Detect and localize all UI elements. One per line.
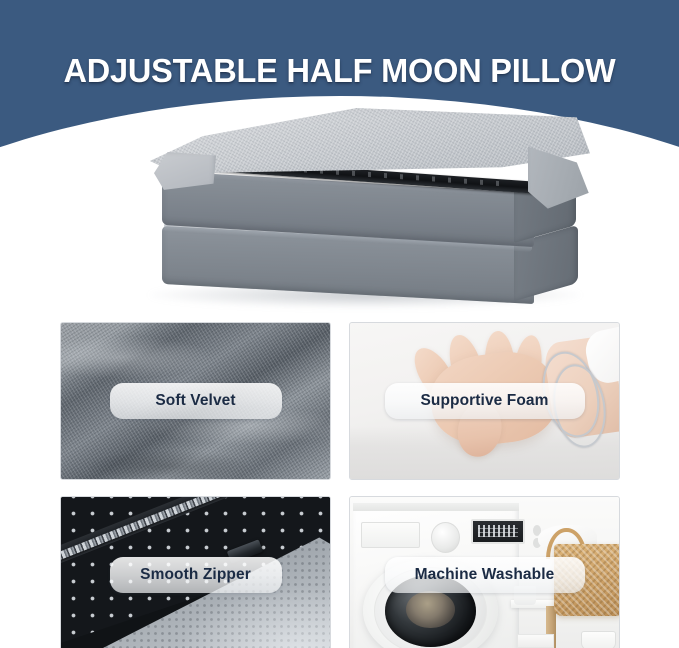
feature-tile-soft-velvet: Soft Velvet [60, 322, 331, 480]
pillow-fold-seam [168, 156, 568, 196]
bottom-slab-front-face [162, 226, 534, 304]
pillow-drop-shadow [150, 282, 580, 308]
pillow-layer-bottom [162, 228, 578, 298]
wedge-side-face [528, 144, 594, 210]
feature-label-machine-washable: Machine Washable [385, 557, 585, 593]
feature-tile-machine-washable: Machine Washable [349, 496, 620, 648]
feature-label-smooth-zipper: Smooth Zipper [110, 557, 282, 593]
pillow-seam-stitching [240, 163, 500, 186]
feature-label-supportive-foam: Supportive Foam [385, 383, 585, 419]
storage-bowl [581, 631, 616, 648]
header-curve-decoration [0, 96, 679, 152]
bottom-slab-side-face [514, 225, 578, 301]
wedge-left-fold [154, 152, 216, 196]
product-infographic: ADJUSTABLE HALF MOON PILLOW [0, 0, 679, 648]
feature-tile-smooth-zipper: Smooth Zipper [60, 496, 331, 648]
washing-machine-top [353, 503, 520, 511]
washer-display-panel [471, 519, 525, 544]
page-title: ADJUSTABLE HALF MOON PILLOW [5, 52, 674, 90]
middle-slab-side-face [514, 169, 576, 243]
feature-label-soft-velvet: Soft Velvet [110, 383, 282, 419]
feature-grid: Soft Velvet Supportive Foam [60, 322, 620, 648]
middle-slab-front-face [162, 171, 534, 247]
bottom-slab-top-edge [164, 222, 532, 252]
pillow-layer-middle [162, 176, 578, 242]
feature-tile-supportive-foam: Supportive Foam [349, 322, 620, 480]
storage-box [517, 634, 555, 648]
washer-drum [406, 591, 454, 628]
detergent-drawer [361, 522, 420, 549]
